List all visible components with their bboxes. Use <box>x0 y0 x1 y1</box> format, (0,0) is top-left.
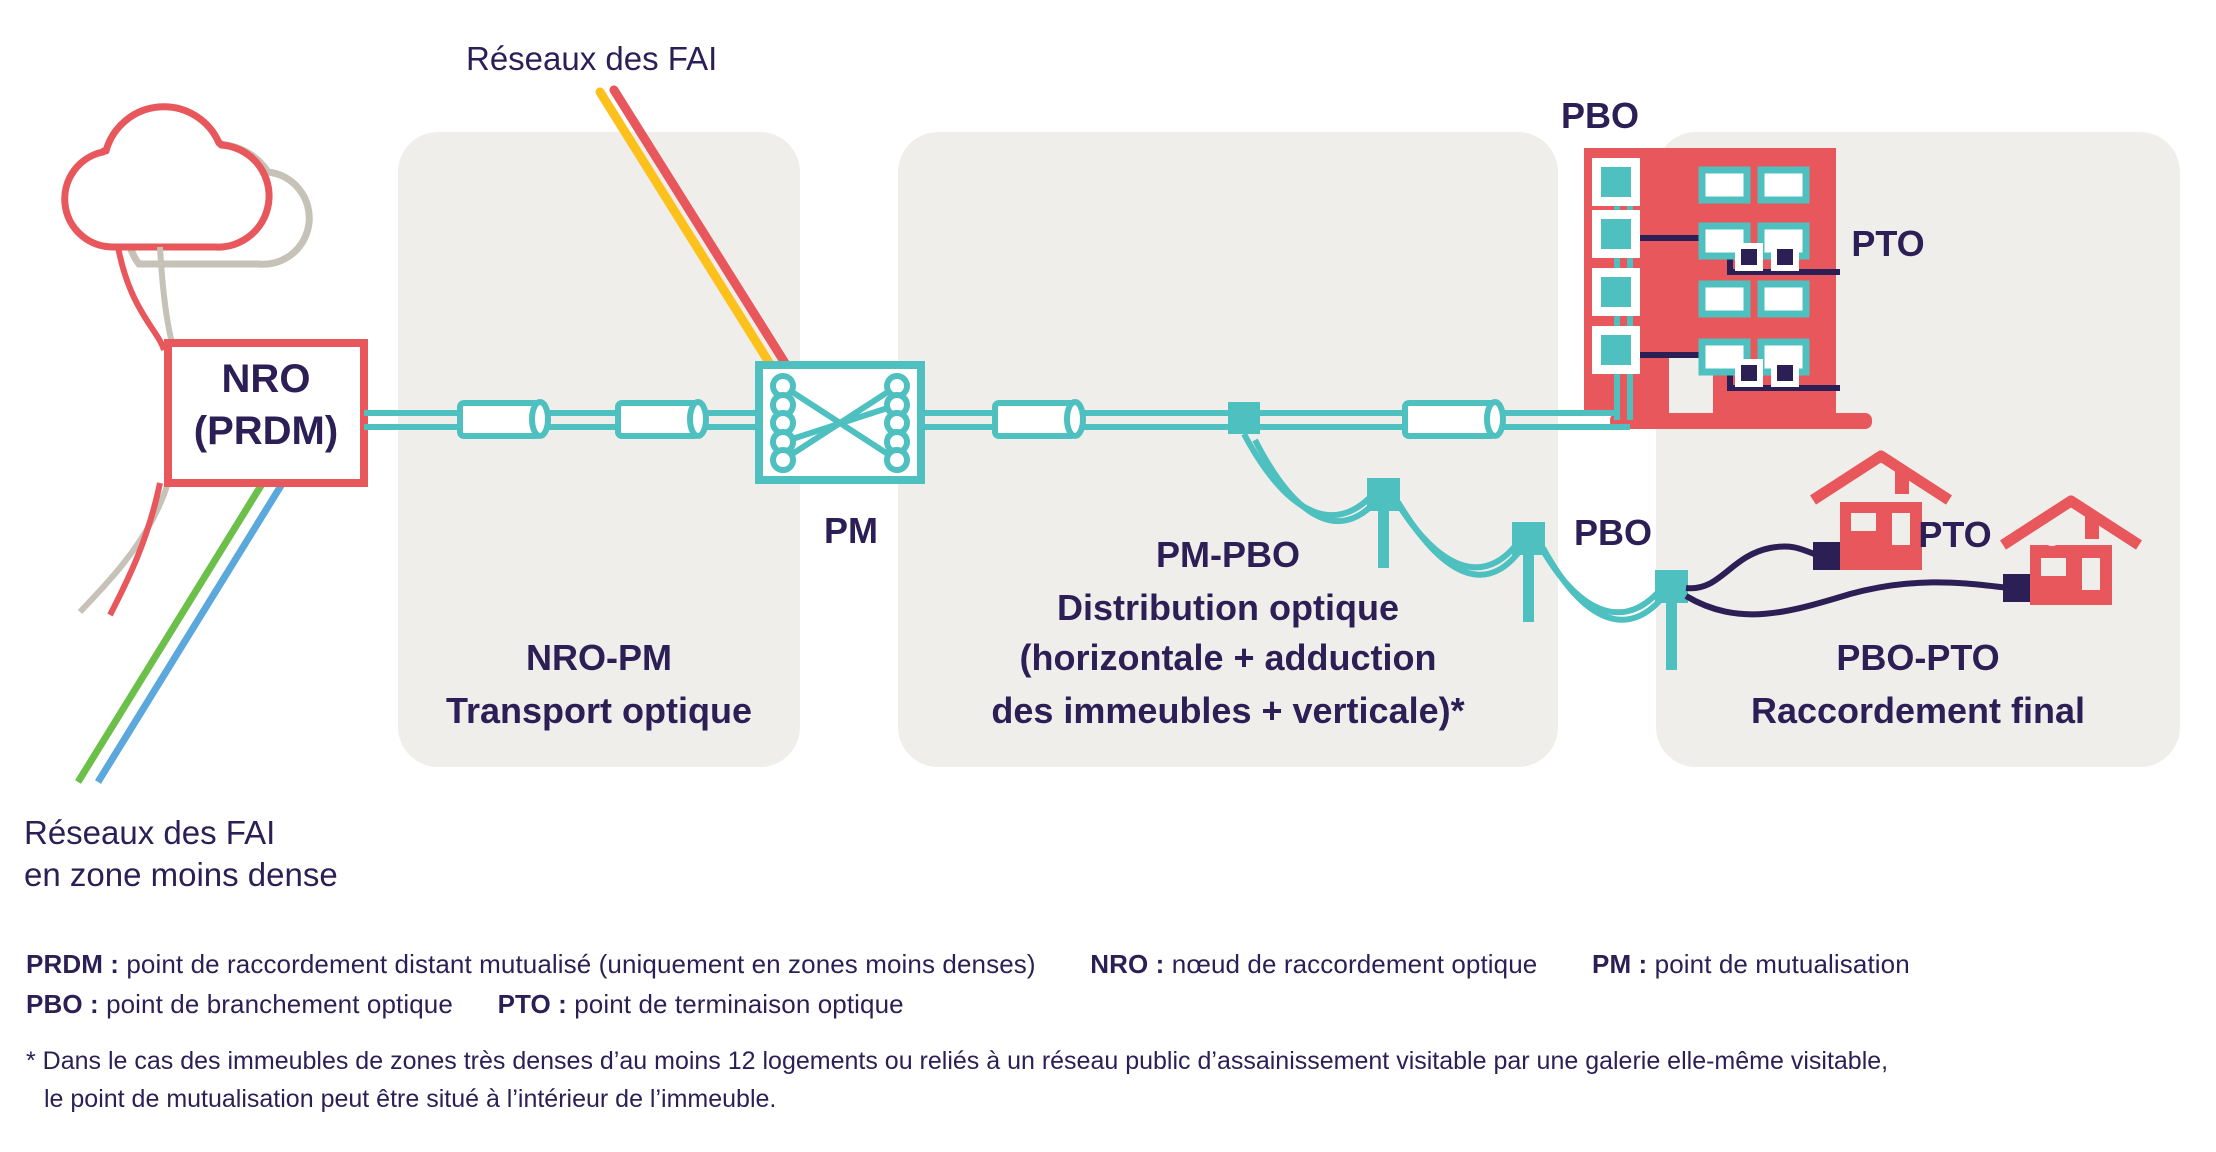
footnote-line-2: le point de mutualisation peut être situ… <box>26 1080 2196 1118</box>
pbo-pole-label: PBO <box>1574 512 1652 553</box>
diagram-root: NRO (PRDM) <box>0 0 2216 1152</box>
building <box>1540 148 1872 429</box>
pto-house-label: PTO <box>1918 514 1991 555</box>
house-1-door <box>1892 513 1910 545</box>
legend-text-pm: point de mutualisation <box>1655 949 1910 979</box>
house-2-window <box>2041 558 2066 576</box>
legend-key-prdm: PRDM : <box>26 949 119 979</box>
nro-label-line1: NRO <box>222 357 311 401</box>
splice-closure-1 <box>460 402 548 436</box>
house-2-chimney <box>2085 513 2099 539</box>
legend-item-pto: PTO : point de terminaison optique <box>498 984 904 1024</box>
cloud-red-icon <box>65 107 269 247</box>
branch-tap-box <box>1228 402 1260 434</box>
legend-row-1: PRDM : point de raccordement distant mut… <box>26 944 2186 984</box>
legend-text-prdm: point de raccordement distant mutualisé … <box>126 949 1035 979</box>
legend-item-pm: PM : point de mutualisation <box>1592 944 1910 984</box>
pbo-pole-box[interactable] <box>1655 570 1688 603</box>
legend-text-nro: nœud de raccordement optique <box>1172 949 1538 979</box>
fai-bottom-label-line1: Réseaux des FAI <box>24 814 275 851</box>
splice-closure-2 <box>618 402 706 436</box>
legend-item-pbo: PBO : point de branchement optique <box>26 984 453 1024</box>
house-2-door <box>2082 558 2100 590</box>
legend-key-pto: PTO : <box>498 989 567 1019</box>
section-pbo-pto-line-0: PBO-PTO <box>1836 637 1999 678</box>
section-pbo-pto-line-1: Raccordement final <box>1751 690 2085 731</box>
building-ground-bar <box>1610 413 1872 429</box>
pbo-box-floor-4[interactable] <box>1601 167 1631 197</box>
footnote-line-1: * Dans le cas des immeubles de zones trè… <box>26 1047 1888 1075</box>
footnote: * Dans le cas des immeubles de zones trè… <box>26 1042 2196 1118</box>
fai-top-label: Réseaux des FAI <box>466 40 717 77</box>
house-1-round-window <box>1852 481 1872 501</box>
pto-building-label: PTO <box>1851 223 1924 264</box>
house-2-round-window <box>2042 526 2062 546</box>
legend-key-pm: PM : <box>1592 949 1647 979</box>
splice-closure-3 <box>995 402 1083 436</box>
pto-connector-house-1[interactable] <box>1813 542 1841 570</box>
pbo-box-floor-2[interactable] <box>1601 277 1631 307</box>
pto-box-3b[interactable] <box>1777 249 1793 265</box>
pto-box-3a[interactable] <box>1741 249 1757 265</box>
pto-box-1a[interactable] <box>1741 365 1757 381</box>
pbo-box-floor-3[interactable] <box>1601 219 1631 249</box>
splice-closure-4 <box>1405 402 1503 436</box>
legend-item-prdm: PRDM : point de raccordement distant mut… <box>26 944 1036 984</box>
fai-strand-blue <box>98 484 282 782</box>
pm-splitter[interactable] <box>759 365 921 480</box>
section-nro-pm-line-0: NRO-PM <box>526 637 672 678</box>
legend: PRDM : point de raccordement distant mut… <box>26 944 2186 1024</box>
house-1-window <box>1851 513 1876 531</box>
section-pm-pbo-line-0: PM-PBO <box>1156 534 1300 575</box>
section-pm-pbo-line-2: (horizontale + adduction <box>1019 637 1436 678</box>
pbo-box-floor-1[interactable] <box>1601 335 1631 365</box>
legend-row-2: PBO : point de branchement optique PTO :… <box>26 984 2186 1024</box>
legend-text-pto: point de terminaison optique <box>574 989 903 1019</box>
legend-item-nro: NRO : nœud de raccordement optique <box>1090 944 1537 984</box>
section-pm-pbo-line-3: des immeubles + verticale)* <box>991 690 1464 731</box>
legend-key-pbo: PBO : <box>26 989 99 1019</box>
fai-bottom-label-line2: en zone moins dense <box>24 856 338 893</box>
section-nro-pm-line-1: Transport optique <box>446 690 752 731</box>
pto-box-1b[interactable] <box>1777 365 1793 381</box>
pm-label: PM <box>824 510 878 551</box>
pbo-building-label: PBO <box>1561 95 1639 136</box>
pto-connector-house-2[interactable] <box>2003 574 2031 602</box>
nro-label-line2: (PRDM) <box>194 409 338 453</box>
section-pm-pbo-line-1: Distribution optique <box>1057 587 1399 628</box>
house-1-chimney <box>1895 468 1909 494</box>
legend-key-nro: NRO : <box>1090 949 1164 979</box>
fai-strand-green <box>78 484 262 782</box>
legend-text-pbo: point de branchement optique <box>106 989 453 1019</box>
